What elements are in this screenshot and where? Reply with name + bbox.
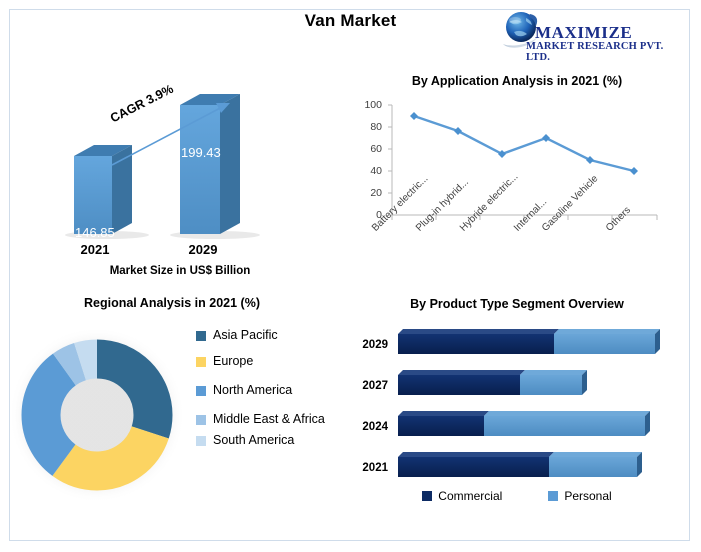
bar-category-2021: 2021 [352,462,388,474]
column-category-2021: 2021 [60,242,130,257]
legend-swatch-europe [196,357,206,367]
legend-swatch-personal [548,491,558,501]
bar-row-2029 [398,329,660,354]
regional-analysis-legend: Asia Pacific Europe North America Middle… [196,328,346,459]
legend-item-europe: Europe [196,354,346,369]
legend-item-middle-east-africa: Middle East & Africa [196,412,346,427]
legend-swatch-south-america [196,436,206,446]
legend-item-asia-pacific: Asia Pacific [196,328,346,343]
column-value-2029: 199.43 [181,145,221,160]
legend-label-south-america: South America [213,433,294,448]
product-type-title: By Product Type Segment Overview [352,297,682,311]
line-series-application [414,116,634,171]
product-type-chart: 2029 2027 2024 2021 [352,318,682,508]
legend-label-north-america: North America [213,383,292,398]
legend-swatch-commercial [422,491,432,501]
bar-category-2027: 2027 [352,380,388,392]
legend-swatch-asia-pacific [196,331,206,341]
legend-swatch-north-america [196,386,206,396]
bar-row-2027 [398,370,587,395]
column-2029 [180,94,240,234]
legend-label-commercial: Commercial [438,489,502,503]
legend-item-commercial: Commercial [422,489,502,503]
application-analysis-chart: 100 80 60 40 20 0 Batter [352,90,682,295]
market-size-axis-title: Market Size in US$ Billion [40,265,320,277]
regional-analysis-title: Regional Analysis in 2021 (%) [14,296,330,310]
legend-item-north-america: North America [196,383,346,398]
bar-row-2024 [398,411,650,436]
bar-category-2024: 2024 [352,421,388,433]
legend-item-personal: Personal [548,489,611,503]
legend-label-middle-east-africa: Middle East & Africa [213,412,325,427]
legend-label-asia-pacific: Asia Pacific [213,328,278,343]
legend-swatch-middle-east-africa [196,415,206,425]
bar-category-2029: 2029 [352,339,388,351]
column-value-2021: 146.85 [75,225,113,240]
logo-name-secondary: MARKET RESEARCH PVT. LTD. [526,41,687,63]
legend-label-personal: Personal [564,489,611,503]
legend-label-europe: Europe [213,354,253,369]
regional-analysis-chart [10,320,185,510]
market-size-chart: 146.85 199.43 CAGR 3.9% 2021 2029 [40,85,340,260]
column-category-2029: 2029 [168,242,238,257]
company-logo: MAXIMIZE MARKET RESEARCH PVT. LTD. [497,8,687,56]
legend-item-south-america: South America [196,433,346,448]
product-type-legend: Commercial Personal [352,489,682,503]
application-analysis-title: By Application Analysis in 2021 (%) [352,74,682,88]
bar-row-2021 [398,452,642,477]
logo-name-primary: MAXIMIZE [535,23,632,43]
